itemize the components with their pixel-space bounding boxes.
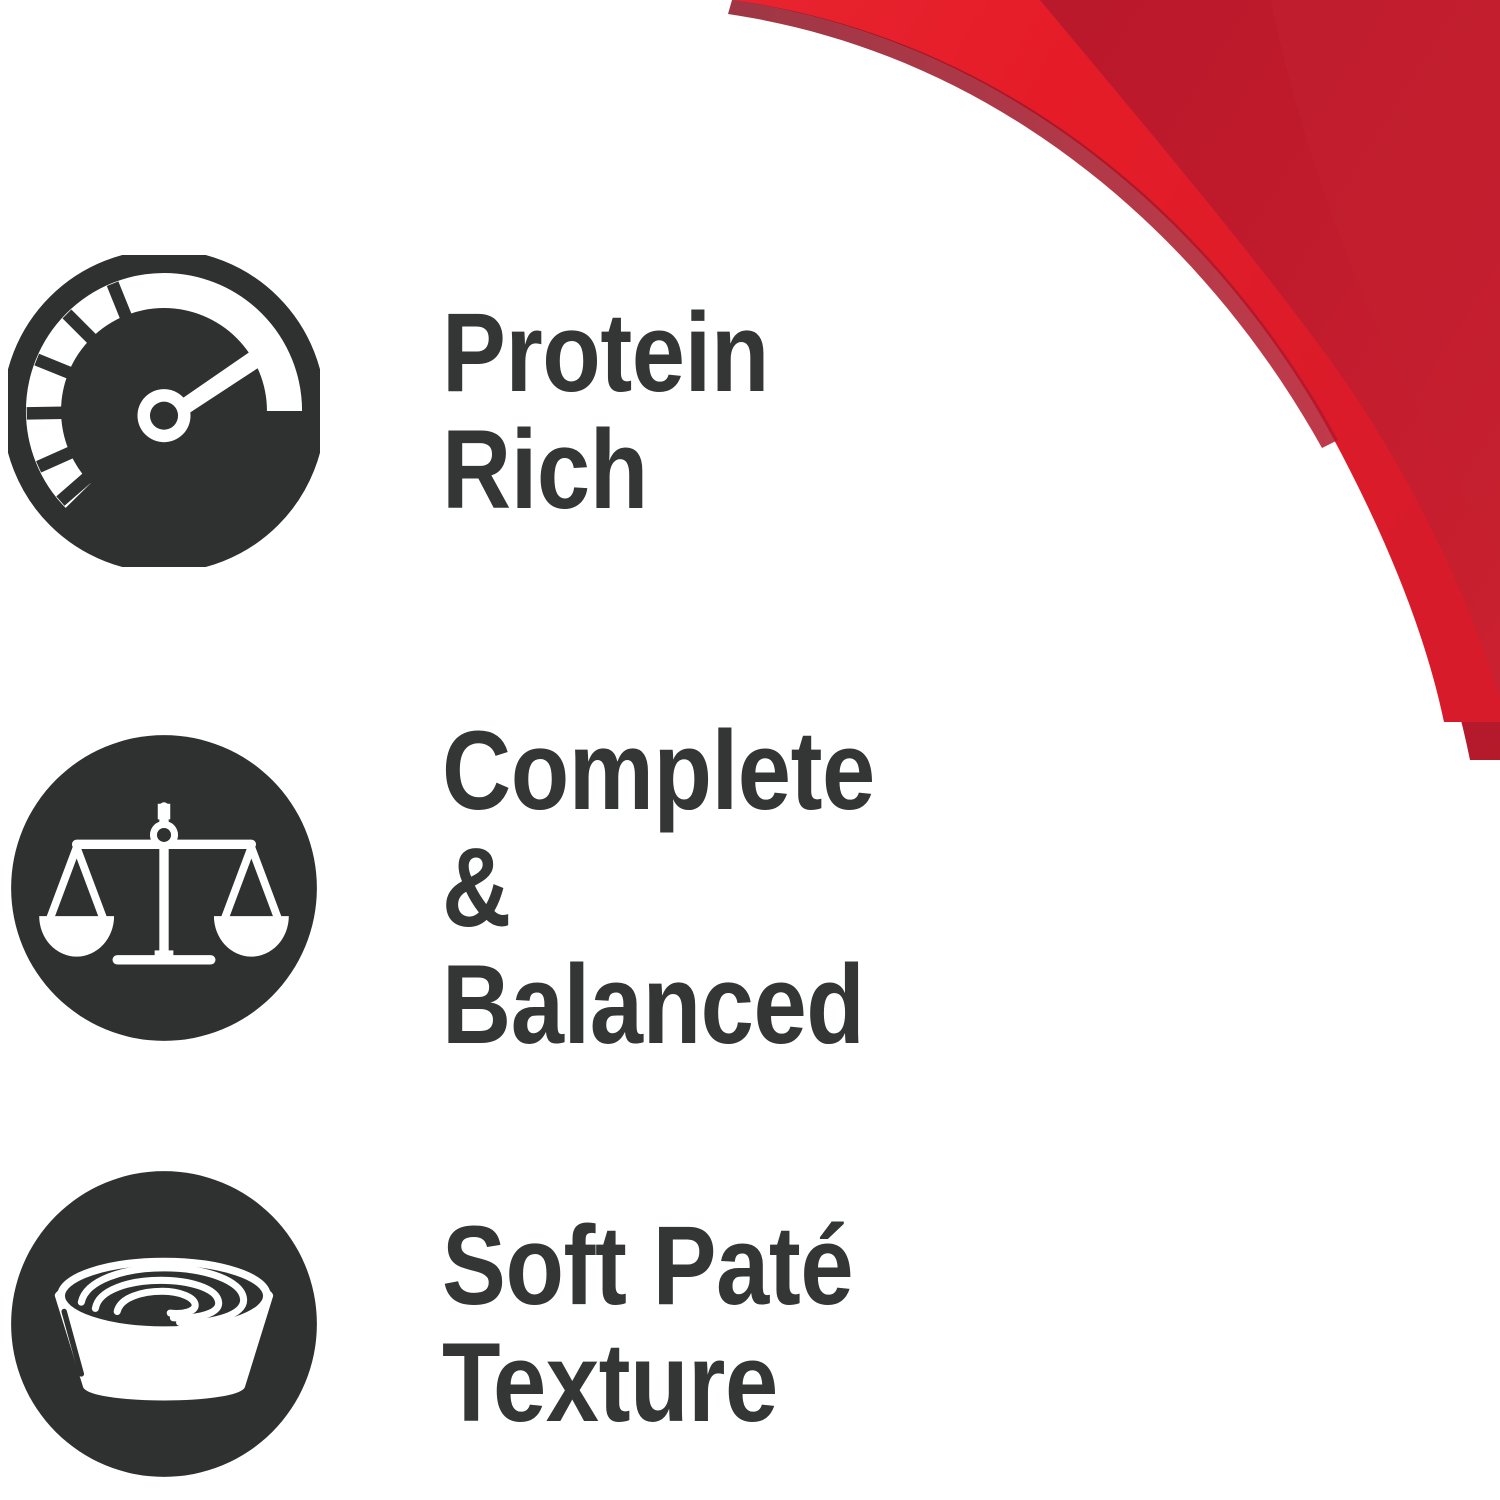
balance-scale-icon: [8, 732, 320, 1044]
feature-row-soft-pate-texture: Soft Paté Texture: [0, 1168, 1000, 1480]
product-feature-panel: Protein Rich: [0, 0, 1500, 1500]
feature-label-complete-balanced: Complete & Balanced: [442, 712, 919, 1063]
speedometer-gauge-icon: [8, 255, 320, 567]
pet-food-bowl-pate-icon: [8, 1168, 320, 1480]
feature-row-complete-balanced: Complete & Balanced: [0, 712, 1000, 1063]
feature-label-protein-rich: Protein Rich: [442, 294, 769, 528]
feature-label-soft-pate-texture: Soft Paté Texture: [442, 1207, 853, 1441]
feature-row-protein-rich: Protein Rich: [0, 255, 1000, 567]
